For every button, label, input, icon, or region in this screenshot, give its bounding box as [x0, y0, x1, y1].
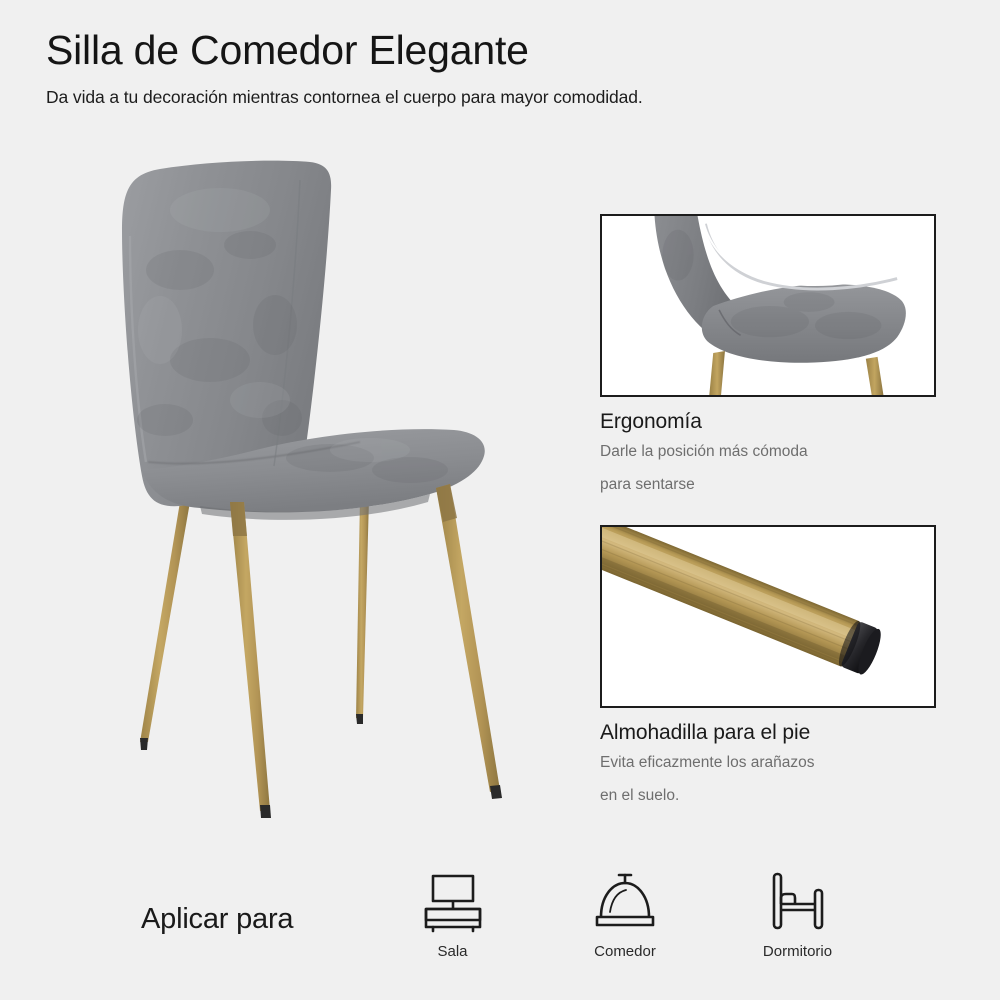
- use-case-dormitorio: Dormitorio: [735, 865, 860, 990]
- header: Silla de Comedor Elegante Da vida a tu d…: [46, 28, 946, 108]
- page-subtitle: Da vida a tu decoración mientras contorn…: [46, 87, 946, 108]
- feature-title: Ergonomía: [600, 410, 936, 434]
- feature-title: Almohadilla para el pie: [600, 721, 936, 745]
- chair-upholstery: [122, 161, 485, 520]
- use-case-label: Dormitorio: [763, 943, 832, 960]
- cloche-dome-icon: [592, 865, 658, 937]
- use-case-comedor: Comedor: [563, 865, 688, 990]
- use-case-list: Sala Comedor: [390, 865, 860, 990]
- page-title: Silla de Comedor Elegante: [46, 28, 946, 74]
- apply-for-section: Aplicar para Sala: [0, 865, 1000, 990]
- chair-illustration: [60, 150, 570, 850]
- leg-foot-pad-closeup-image: [602, 527, 934, 706]
- apply-for-label: Aplicar para: [141, 903, 293, 936]
- feature-desc-line2: para sentarse: [600, 477, 936, 493]
- feature-ergonomia: Ergonomía Darle la posición más cómoda p…: [600, 214, 936, 492]
- feature-almohadilla: Almohadilla para el pie Evita eficazment…: [600, 525, 936, 803]
- feature-desc-line2: en el suelo.: [600, 788, 936, 804]
- bed-icon: [765, 865, 831, 937]
- product-infographic: Silla de Comedor Elegante Da vida a tu d…: [0, 0, 1000, 1000]
- feature-desc-line1: Evita eficazmente los arañazos: [600, 755, 936, 771]
- hero-chair-image: [60, 150, 570, 850]
- feature-list: Ergonomía Darle la posición más cómoda p…: [600, 214, 936, 803]
- feature-image-frame: [600, 214, 936, 397]
- use-case-sala: Sala: [390, 865, 515, 990]
- use-case-label: Comedor: [594, 943, 656, 960]
- feature-image-frame: [600, 525, 936, 708]
- tv-stand-icon: [420, 865, 486, 937]
- feature-desc-line1: Darle la posición más cómoda: [600, 444, 936, 460]
- seat-profile-closeup-image: [602, 216, 934, 395]
- use-case-label: Sala: [437, 943, 467, 960]
